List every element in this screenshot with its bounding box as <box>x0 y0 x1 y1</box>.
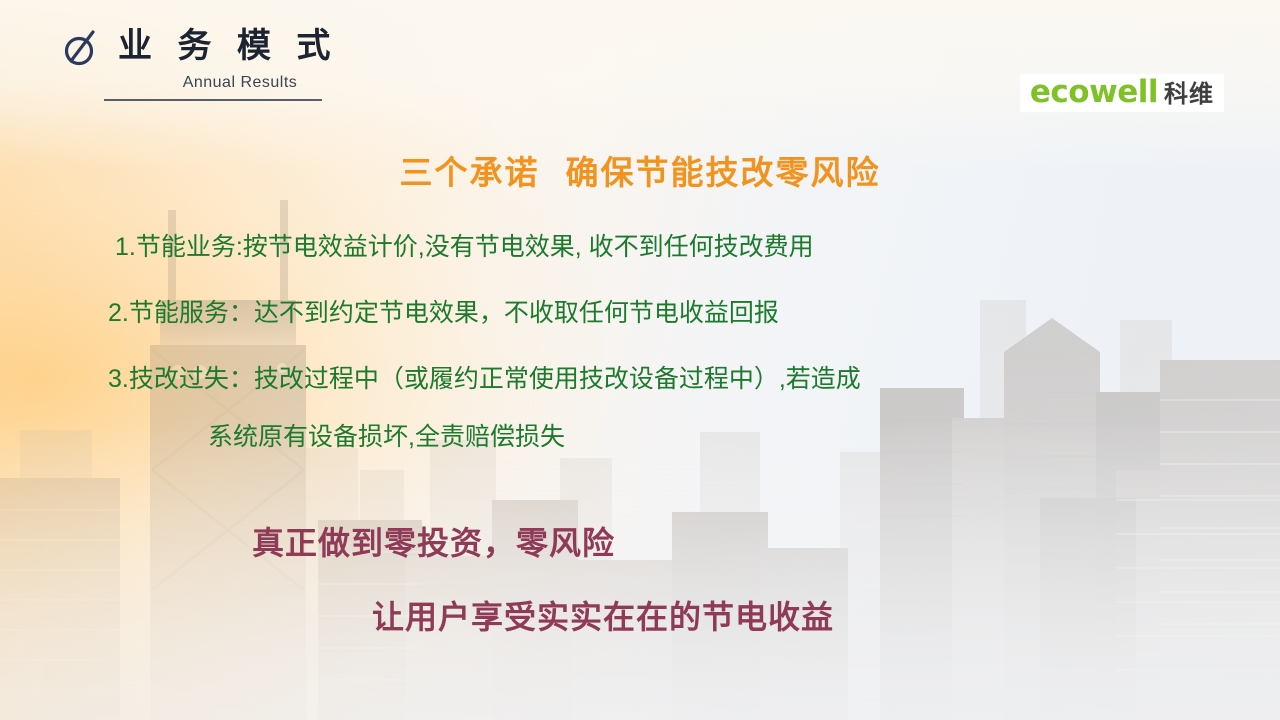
promise-item-3: 3.技改过失：技改过程中（或履约正常使用技改设备过程中）,若造成 <box>108 364 1280 394</box>
slide-canvas: 业 务 模 式 Annual Results ecowell 科维 三个承诺确保… <box>0 0 1280 720</box>
promise-item-3-continuation: 系统原有设备损坏,全责赔偿损失 <box>208 422 1280 452</box>
headline-part-left: 三个承诺 <box>400 154 540 191</box>
header-title-row: 业 务 模 式 <box>62 26 482 68</box>
slide-header: 业 务 模 式 Annual Results <box>62 26 482 101</box>
conclusion-line-2: 让用户享受实实在在的节电收益 <box>372 598 1280 636</box>
promise-list: 1.节能业务:按节电效益计价,没有节电效果, 收不到任何技改费用 2.节能服务：… <box>0 232 1280 452</box>
header-subtitle: Annual Results <box>110 74 370 92</box>
logo-wordmark: ecowell <box>1030 77 1158 108</box>
header-divider <box>104 99 322 101</box>
conclusion-block: 真正做到零投资，零风险 让用户享受实实在在的节电收益 <box>0 524 1280 637</box>
conclusion-line-1: 真正做到零投资，零风险 <box>252 524 1280 562</box>
logo-chinese-name: 科维 <box>1164 83 1214 107</box>
headline-part-right: 确保节能技改零风险 <box>566 154 881 191</box>
promise-item-2: 2.节能服务：达不到约定节电效果，不收取任何节电收益回报 <box>108 298 1280 328</box>
slide-headline: 三个承诺确保节能技改零风险 <box>0 146 1280 194</box>
page-title: 业 务 模 式 <box>118 28 338 65</box>
promise-item-1: 1.节能业务:按节电效益计价,没有节电效果, 收不到任何技改费用 <box>115 232 1280 262</box>
circle-slash-icon <box>62 26 102 68</box>
ecowell-logo: ecowell 科维 <box>1020 74 1224 112</box>
